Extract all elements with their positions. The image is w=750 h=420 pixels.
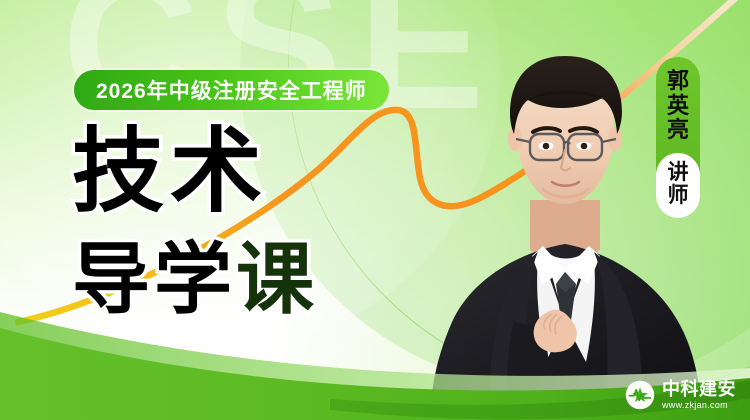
instructor-name-pill: 郭 英 亮 讲 师 (656, 57, 700, 218)
page-title: 技术 (72, 126, 268, 218)
instructor-name-char: 亮 (667, 118, 689, 143)
instructor-name-vertical: 郭 英 亮 (667, 69, 689, 143)
brand-name: 中科建安 (662, 380, 736, 398)
course-category-badge: 2026年中级注册安全工程师 (74, 70, 389, 110)
instructor-role-char: 师 (668, 184, 689, 208)
course-promo-poster: CSE 2026年中级注册安全工程师 技术 导学课 (0, 0, 750, 420)
badge-label: 2026年中级注册安全工程师 (96, 75, 367, 105)
instructor-role-cap: 讲 师 (656, 153, 700, 218)
brand-url: www.zkjan.com (662, 401, 736, 410)
page-subtitle: 导学课 (72, 240, 318, 318)
instructor-role-vertical: 讲 师 (668, 161, 689, 208)
brand-logo: 中科建安 www.zkjan.com (625, 380, 736, 410)
page-subtitle-lead: 导学 (72, 235, 236, 323)
instructor-name-char: 英 (667, 94, 689, 119)
page-subtitle-tail: 课 (236, 235, 318, 323)
instructor-role-char: 讲 (668, 161, 689, 185)
zkjan-circle-logo-icon (625, 380, 655, 410)
brand-logo-text: 中科建安 www.zkjan.com (662, 380, 736, 410)
instructor-name-char: 郭 (667, 69, 689, 94)
